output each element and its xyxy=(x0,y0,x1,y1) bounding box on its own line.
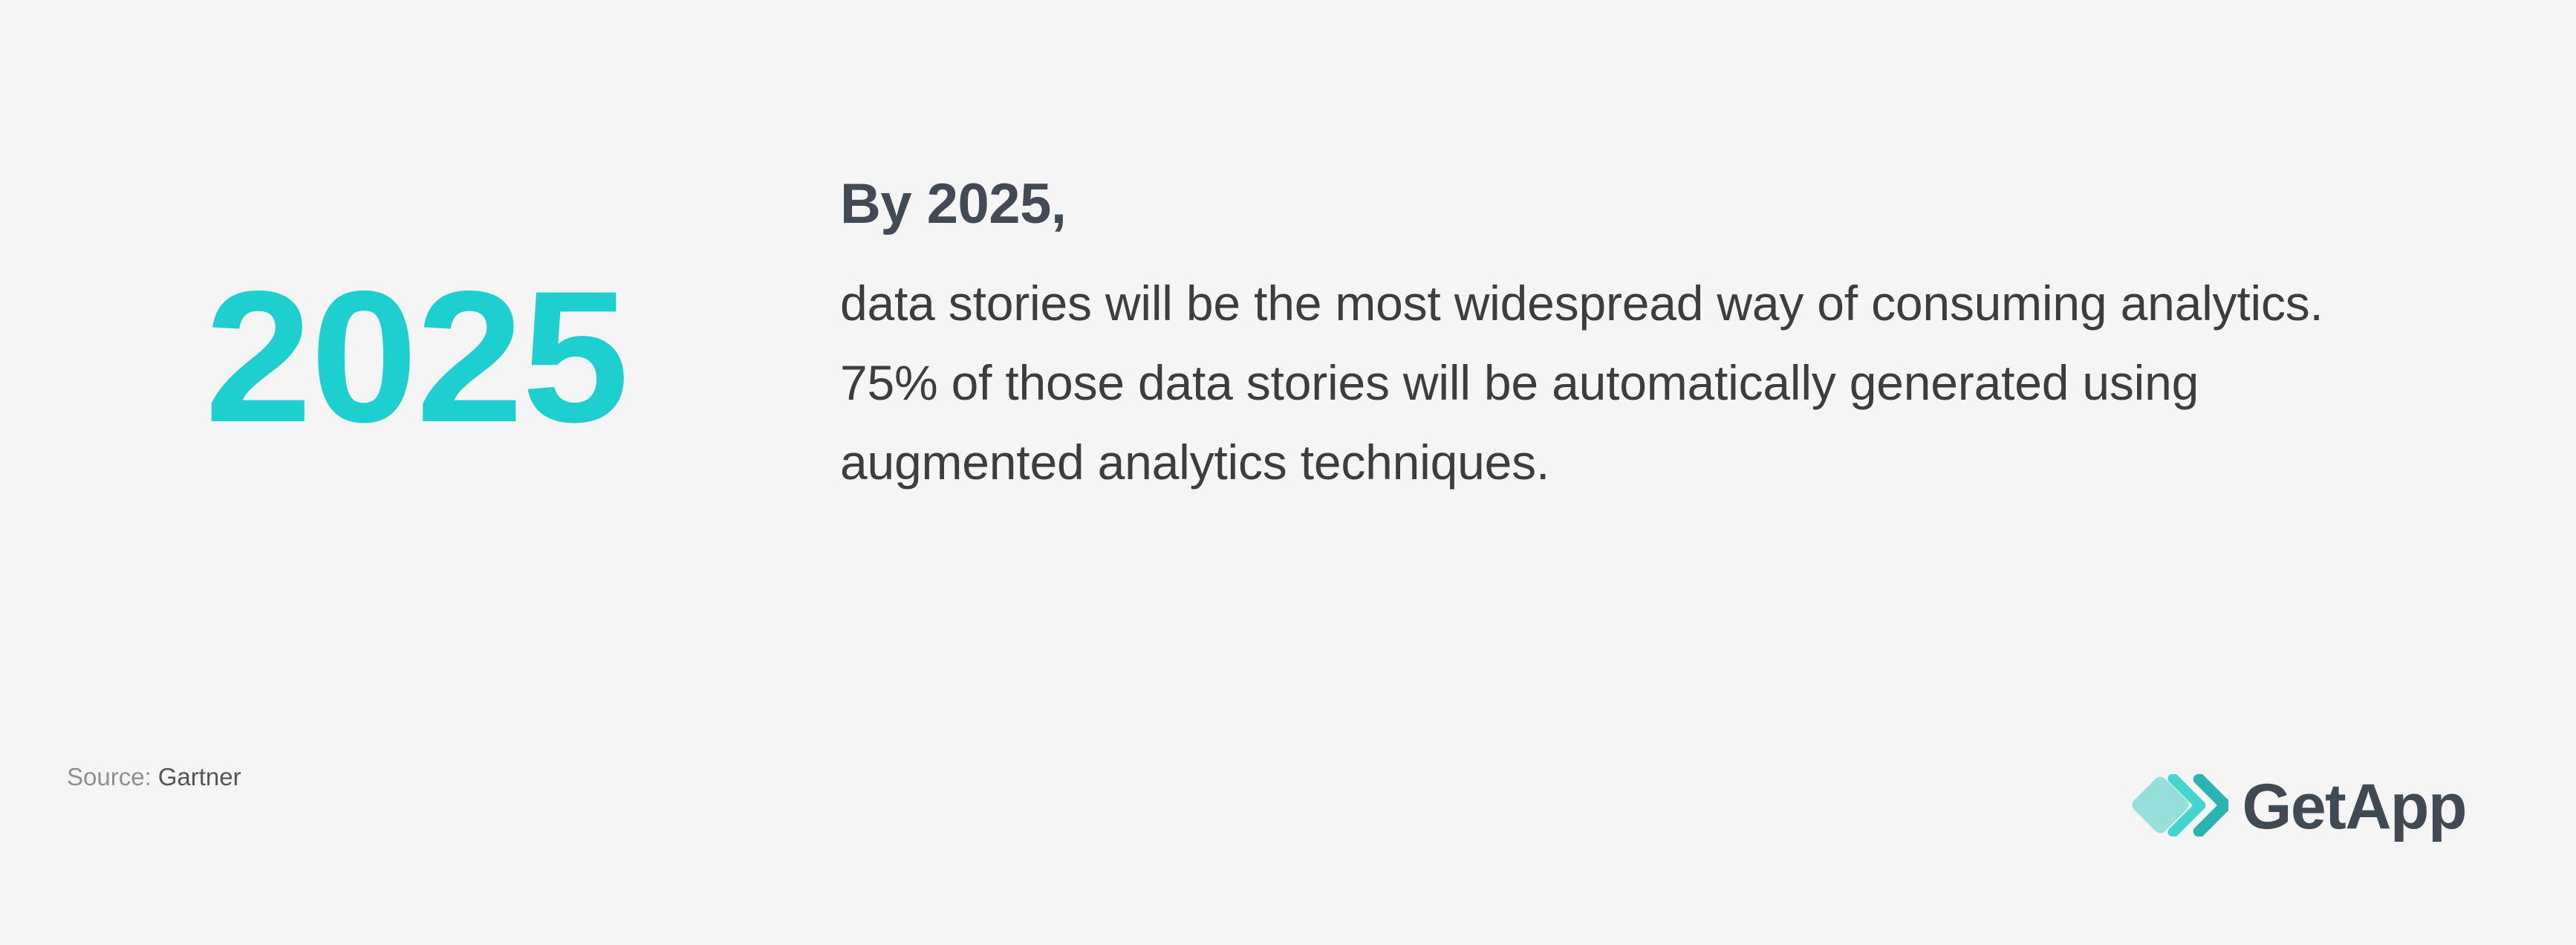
stat-card: 2025 By 2025, data stories will be the m… xyxy=(0,0,2576,945)
source-label: Source: xyxy=(67,763,152,790)
getapp-chevrons-icon xyxy=(2130,767,2228,844)
brand-wordmark: GetApp xyxy=(2242,775,2466,839)
content-column: By 2025, data stories will be the most w… xyxy=(840,172,2378,502)
headline: By 2025, xyxy=(840,172,2378,236)
source-attribution: Source:Gartner xyxy=(67,764,241,789)
body-copy: data stories will be the most widespread… xyxy=(840,264,2378,502)
stat-figure: 2025 xyxy=(0,264,832,451)
source-name: Gartner xyxy=(158,763,241,790)
stat-figure-value: 2025 xyxy=(204,264,627,451)
brand-logo[interactable]: GetApp xyxy=(2130,767,2466,844)
